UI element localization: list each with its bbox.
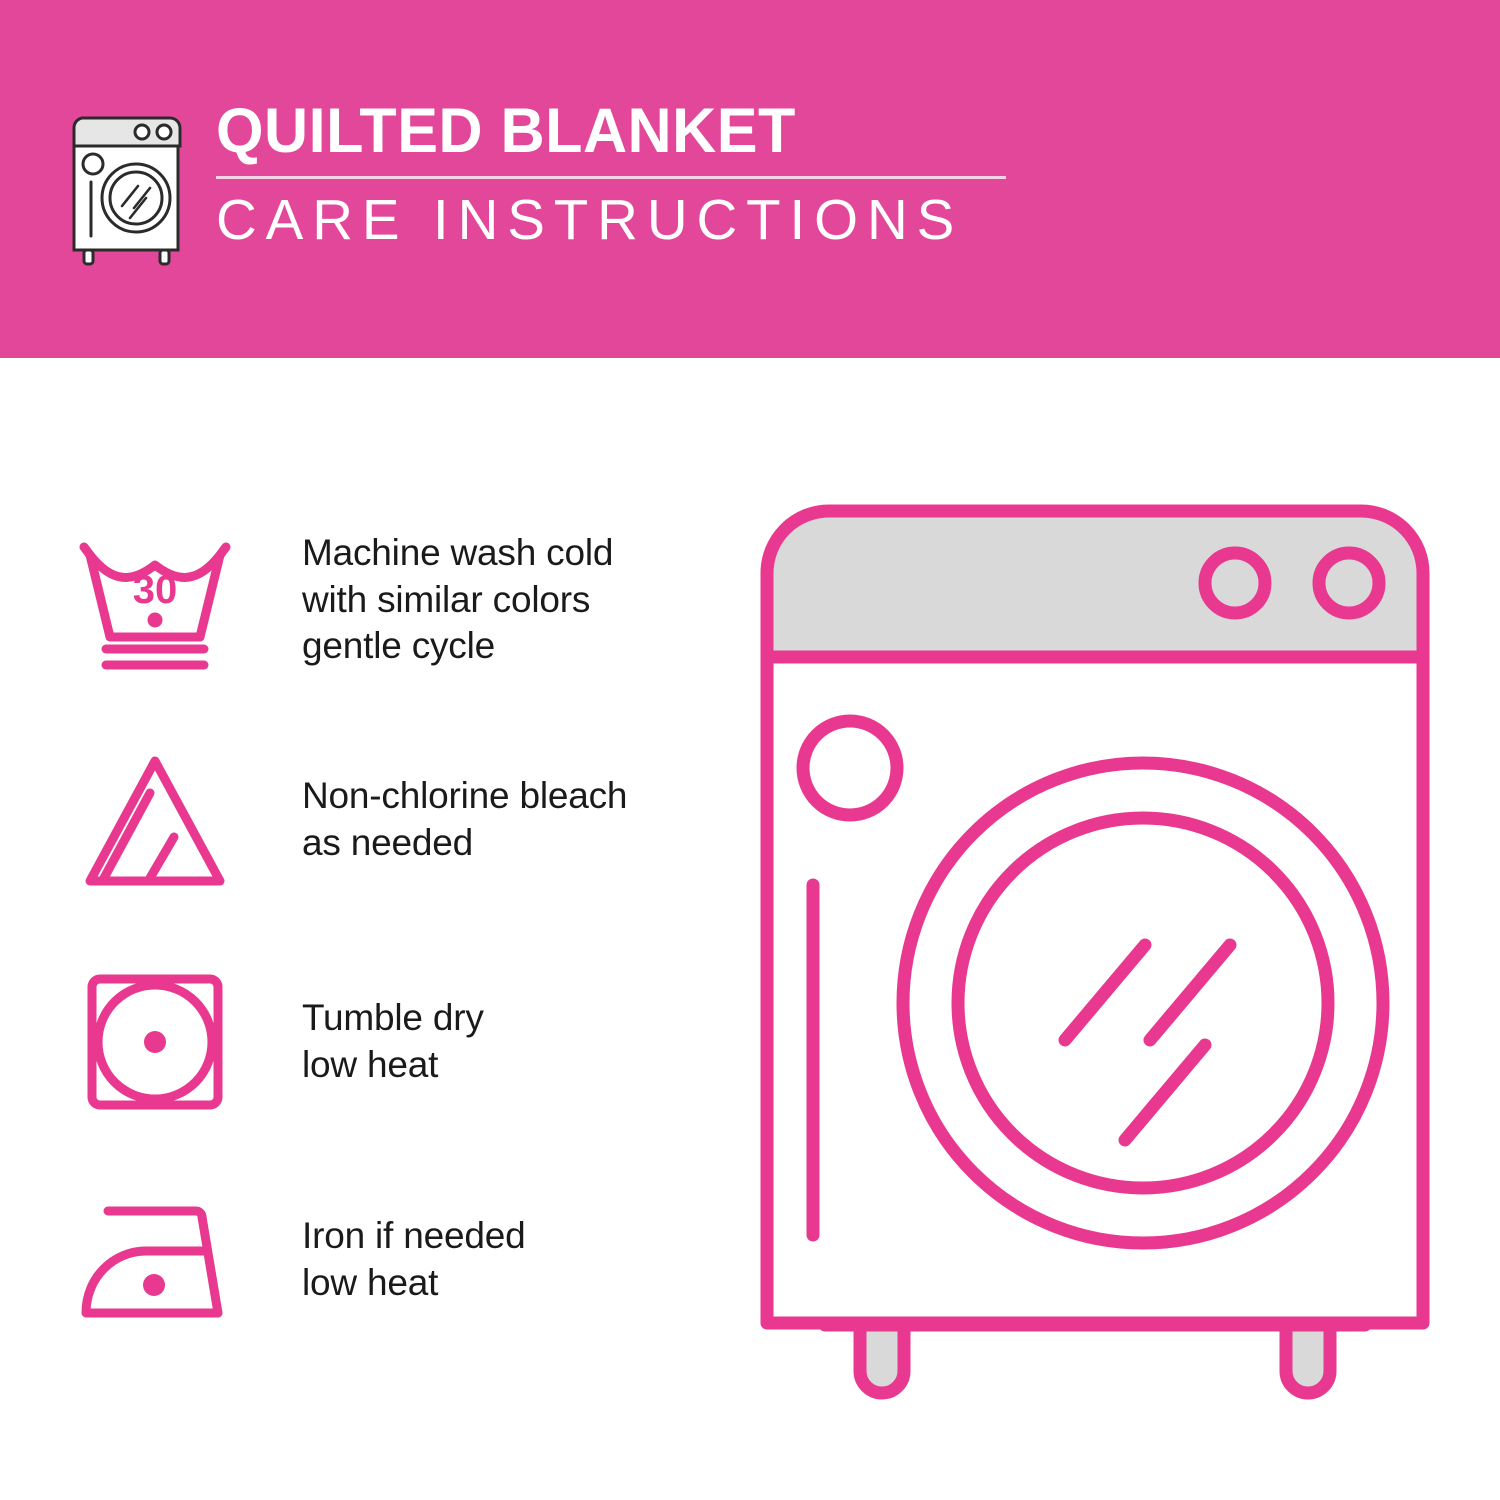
tumble-dry-icon [70, 962, 250, 1122]
header-titles: QUILTED BLANKET CARE INSTRUCTIONS [216, 100, 1006, 251]
front-load-washing-machine-illustration [745, 495, 1445, 1425]
care-line-2: with similar colors [302, 577, 613, 624]
care-row-bleach: Non-chlorine bleach as needed [70, 740, 730, 900]
care-row-machine-wash: 30 Machine wash cold with similar colors… [70, 520, 730, 680]
care-line-3: gentle cycle [302, 623, 613, 670]
bleach-triangle-icon [70, 740, 250, 900]
care-line-1: Non-chlorine bleach [302, 773, 627, 820]
care-line-1: Iron if needed [302, 1213, 525, 1260]
care-line-1: Machine wash cold [302, 530, 613, 577]
washing-machine-icon [62, 108, 194, 268]
header-content: QUILTED BLANKET CARE INSTRUCTIONS [62, 100, 1006, 268]
washer-leg-left [860, 1325, 904, 1393]
wash-tub-icon: 30 [70, 520, 250, 680]
page-subtitle: CARE INSTRUCTIONS [216, 191, 998, 251]
wash-temperature-value: 30 [133, 568, 178, 612]
care-text-iron: Iron if needed low heat [302, 1213, 525, 1306]
care-line-1: Tumble dry [302, 995, 484, 1042]
iron-dot [143, 1274, 165, 1296]
tumble-dry-dot [144, 1031, 166, 1053]
title-divider [216, 176, 1006, 179]
care-line-2: as needed [302, 820, 627, 867]
wash-dot [148, 613, 163, 628]
care-text-bleach: Non-chlorine bleach as needed [302, 773, 627, 866]
care-text-machine-wash: Machine wash cold with similar colors ge… [302, 530, 613, 670]
care-line-2: low heat [302, 1042, 484, 1089]
care-instructions-page: QUILTED BLANKET CARE INSTRUCTIONS 30 [0, 0, 1500, 1500]
care-row-tumble-dry: Tumble dry low heat [70, 962, 730, 1122]
header-band: QUILTED BLANKET CARE INSTRUCTIONS [0, 0, 1500, 358]
care-row-iron: Iron if needed low heat [70, 1180, 730, 1340]
care-line-2: low heat [302, 1260, 525, 1307]
washer-leg-right [1286, 1325, 1330, 1393]
page-title: QUILTED BLANKET [216, 100, 982, 163]
iron-icon [70, 1180, 250, 1340]
care-text-tumble-dry: Tumble dry low heat [302, 995, 484, 1088]
